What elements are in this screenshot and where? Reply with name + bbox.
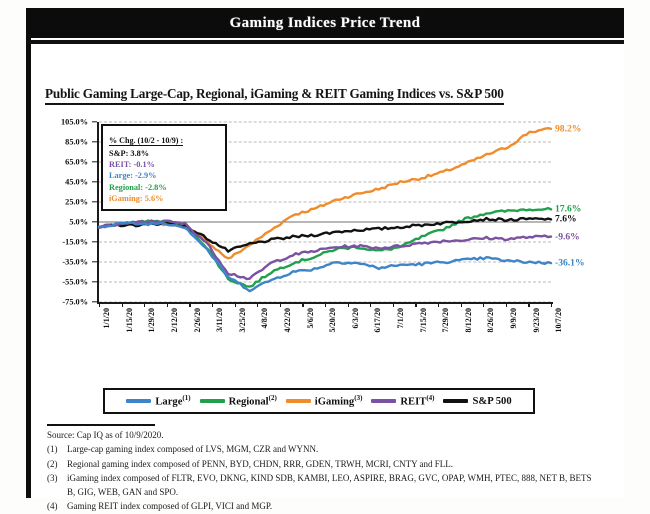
x-tick <box>144 302 145 307</box>
legend-swatch <box>443 399 468 403</box>
legend-item-reit[interactable]: REIT(4) <box>371 394 434 408</box>
x-tick-label: 1/15/20 <box>125 308 134 332</box>
y-tick-label: 5.0% <box>69 218 88 227</box>
x-tick-label: 7/1/20 <box>396 308 405 328</box>
x-tick <box>461 302 462 307</box>
slide-page: Gaming Indices Price Trend Public Gaming… <box>0 0 650 514</box>
x-tick <box>167 302 168 307</box>
x-tick-label: 9/9/20 <box>509 308 518 328</box>
x-tick <box>257 302 258 307</box>
x-tick-label: 1/29/20 <box>147 308 156 332</box>
y-tick-label: -55.0% <box>62 278 88 287</box>
y-tick-label: 45.0% <box>65 178 88 187</box>
callout-row: REIT: -0.1% <box>109 159 220 170</box>
x-tick <box>122 302 123 307</box>
x-tick-label: 1/1/20 <box>102 308 111 328</box>
callout-row: Large: -2.9% <box>109 170 220 181</box>
callout-rows: S&P: 3.8%REIT: -0.1%Large: -2.9%Regional… <box>109 148 220 204</box>
callout-row: iGaming: 5.6% <box>109 193 220 204</box>
content-panel: Public Gaming Large-Cap, Regional, iGami… <box>31 44 624 498</box>
chart-legend: Large(1)Regional(2)iGaming(3)REIT(4)S&P … <box>103 388 535 414</box>
y-tick-label: -75.0% <box>62 298 88 307</box>
x-tick <box>370 302 371 307</box>
footnote-item: (3)iGaming index composed of FLTR, EVO, … <box>47 472 592 499</box>
x-tick <box>302 302 303 307</box>
x-tick <box>393 302 394 307</box>
series-line-reit <box>99 221 551 279</box>
x-tick-label: 3/25/20 <box>238 308 247 332</box>
title-bar: Gaming Indices Price Trend <box>26 8 624 38</box>
footnotes: Source: Cap IQ as of 10/9/2020. (1)Large… <box>47 424 592 514</box>
x-tick <box>528 302 529 307</box>
legend-item-s-p-500[interactable]: S&P 500 <box>443 396 511 407</box>
callout-heading: % Chg. (10/2 - 10/9) : <box>109 136 183 146</box>
legend-swatch <box>371 399 396 403</box>
footnote-item: (4)Gaming REIT index composed of GLPI, V… <box>47 500 592 513</box>
x-tick-label: 8/12/20 <box>464 308 473 332</box>
x-tick-label: 3/11/20 <box>215 308 224 332</box>
footnote-number: (1) <box>47 443 62 456</box>
y-tick-label: -35.0% <box>62 258 88 267</box>
callout-row: Regional: -2.8% <box>109 182 220 193</box>
footnote-number: (3) <box>47 472 62 499</box>
legend-label: REIT(4) <box>400 394 434 408</box>
footnote-number: (2) <box>47 458 62 471</box>
percent-change-callout: % Chg. (10/2 - 10/9) : S&P: 3.8%REIT: -0… <box>101 124 227 211</box>
x-tick-label: 4/8/20 <box>260 308 269 328</box>
x-tick-label: 10/7/20 <box>554 308 563 332</box>
endpoint-label: -9.6% <box>555 231 580 242</box>
x-tick-label: 2/12/20 <box>170 308 179 332</box>
legend-item-large[interactable]: Large(1) <box>126 394 190 408</box>
x-tick-label: 5/6/20 <box>306 308 315 328</box>
x-tick-label: 6/17/20 <box>373 308 382 332</box>
footnote-item: (1)Large-cap gaming index composed of LV… <box>47 443 592 456</box>
x-tick <box>212 302 213 307</box>
x-tick-label: 5/20/20 <box>328 308 337 332</box>
chart-heading: Public Gaming Large-Cap, Regional, iGami… <box>45 86 504 105</box>
y-tick-label: 25.0% <box>65 198 88 207</box>
footnote-text: Regional gaming index composed of PENN, … <box>67 458 592 471</box>
y-tick-label: 85.0% <box>65 138 88 147</box>
y-axis-labels: 105.0%85.0%65.0%45.0%25.0%5.0%-15.0%-35.… <box>45 122 92 302</box>
legend-item-regional[interactable]: Regional(2) <box>200 394 277 408</box>
x-axis-labels: 1/1/201/15/201/29/202/12/202/26/203/11/2… <box>99 308 551 354</box>
y-tick-label: 105.0% <box>61 118 88 127</box>
x-tick <box>325 302 326 307</box>
footnote-text: Large-cap gaming index composed of LVS, … <box>67 443 592 456</box>
x-tick-label: 9/23/20 <box>532 308 541 332</box>
footnote-text: Gaming REIT index composed of GLPI, VICI… <box>67 500 592 513</box>
x-tick <box>506 302 507 307</box>
legend-label: Large(1) <box>155 394 190 408</box>
x-tick-label: 8/26/20 <box>486 308 495 332</box>
legend-swatch <box>126 399 151 403</box>
endpoint-label: -36.1% <box>555 258 585 269</box>
legend-label: S&P 500 <box>472 396 511 407</box>
footnote-rule <box>47 424 155 426</box>
x-tick <box>99 302 100 307</box>
legend-label: Regional(2) <box>229 394 277 408</box>
x-tick <box>189 302 190 307</box>
series-line-s-p-500 <box>99 218 551 252</box>
x-tick <box>438 302 439 307</box>
callout-row: S&P: 3.8% <box>109 148 220 159</box>
y-tick-label: 65.0% <box>65 158 88 167</box>
chart-plot-area: 105.0%85.0%65.0%45.0%25.0%5.0%-15.0%-35.… <box>45 122 605 362</box>
footnote-item: (2)Regional gaming index composed of PEN… <box>47 458 592 471</box>
legend-label: iGaming(3) <box>315 394 363 408</box>
x-tick <box>551 302 552 307</box>
x-tick-label: 6/3/20 <box>351 308 360 328</box>
x-tick <box>348 302 349 307</box>
footnote-list: (1)Large-cap gaming index composed of LV… <box>47 443 592 513</box>
footnote-text: iGaming index composed of FLTR, EVO, DKN… <box>67 472 592 499</box>
endpoint-label: 7.6% <box>555 214 577 225</box>
x-tick <box>415 302 416 307</box>
x-tick-label: 7/29/20 <box>441 308 450 332</box>
x-tick-label: 2/26/20 <box>193 308 202 332</box>
x-tick <box>280 302 281 307</box>
x-tick-label: 4/22/20 <box>283 308 292 332</box>
y-tick-label: -15.0% <box>62 238 88 247</box>
footnote-number: (4) <box>47 500 62 513</box>
legend-item-igaming[interactable]: iGaming(3) <box>286 394 363 408</box>
x-tick <box>235 302 236 307</box>
endpoint-label: 98.2% <box>555 123 581 134</box>
legend-swatch <box>286 399 311 403</box>
legend-swatch <box>200 399 225 403</box>
x-tick-label: 7/15/20 <box>419 308 428 332</box>
page-title: Gaming Indices Price Trend <box>230 15 421 32</box>
source-note: Source: Cap IQ as of 10/9/2020. <box>47 429 592 442</box>
x-tick <box>483 302 484 307</box>
